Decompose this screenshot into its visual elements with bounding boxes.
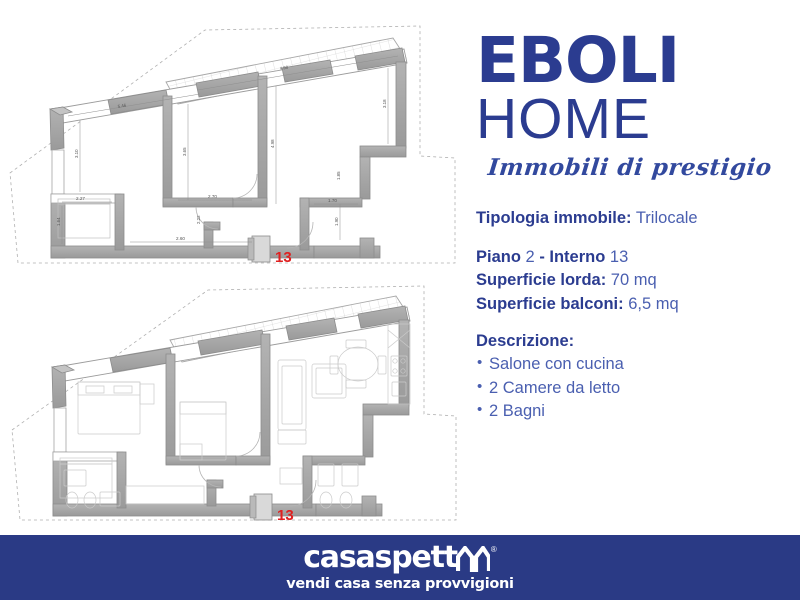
north-wall — [60, 48, 407, 123]
south-wall — [51, 246, 380, 258]
floor-plan-brochure: 13 5.46 4.6 — [0, 0, 800, 600]
house-roof-icon — [456, 546, 490, 572]
north-wall — [62, 306, 410, 381]
svg-text:2.27: 2.27 — [76, 196, 85, 201]
brand-logo: EBOLI HOME Immobili di prestigio — [476, 30, 782, 181]
property-info-panel: EBOLI HOME Immobili di prestigio Tipolog… — [462, 0, 800, 535]
casaspetto-wordmark: casaspett — [303, 543, 457, 573]
registered-trademark-icon: ® — [491, 543, 497, 554]
floor-unit-row: Piano 2 - Interno 13 — [476, 246, 782, 269]
brand-name-secondary: HOME — [476, 90, 782, 150]
footer-subtitle: vendi casa senza provvigioni — [286, 576, 513, 592]
property-type-row: Tipologia immobile: Trilocale — [476, 207, 782, 230]
unit-label: - Interno — [539, 248, 605, 266]
svg-text:1.90: 1.90 — [334, 217, 339, 226]
balcony-area-row: Superficie balconi: 6,5 mq — [476, 293, 782, 316]
fixture-outlines — [58, 199, 110, 238]
gross-area-label: Superficie lorda: — [476, 271, 606, 289]
dimensioned-floor-plan[interactable]: 13 5.46 4.6 — [0, 8, 460, 278]
floor-value: 2 — [526, 248, 535, 266]
bathroom-2-fixtures — [318, 464, 358, 508]
svg-text:1.70: 1.70 — [328, 198, 337, 203]
svg-text:2.22: 2.22 — [196, 215, 201, 224]
list-item: 2 Bagni — [476, 400, 782, 423]
brand-tagline: Immobili di prestigio — [487, 154, 784, 181]
entry-door — [248, 236, 270, 262]
balcony-area-value: 6,5 mq — [628, 295, 678, 313]
property-type-group: Tipologia immobile: Trilocale — [476, 207, 782, 230]
gross-area-row: Superficie lorda: 70 mq — [476, 269, 782, 292]
bathroom-1-fixtures — [60, 458, 120, 508]
brand-name-primary: EBOLI — [476, 30, 782, 92]
bed-camera-1 — [78, 382, 154, 434]
description-title: Descrizione: — [476, 332, 782, 351]
unit-marker-lower: 13 — [277, 507, 294, 524]
sofa-salone — [278, 360, 306, 444]
list-item: Salone con cucina — [476, 353, 782, 376]
svg-text:3.65: 3.65 — [182, 147, 187, 156]
svg-text:3.10: 3.10 — [74, 149, 79, 158]
bed-camera-2 — [180, 402, 226, 460]
property-type-value: Trilocale — [636, 209, 698, 227]
svg-text:1.85: 1.85 — [336, 171, 341, 180]
furnished-floor-plan[interactable]: 13 — [0, 272, 460, 534]
armchair-salone — [312, 364, 346, 398]
floor-label: Piano — [476, 248, 521, 266]
description-group: Descrizione: Salone con cucina 2 Camere … — [476, 332, 782, 423]
description-list: Salone con cucina 2 Camere da letto 2 Ba… — [476, 353, 782, 423]
entry-door — [250, 494, 272, 520]
svg-text:3.18: 3.18 — [382, 99, 387, 108]
east-wall — [360, 62, 406, 258]
list-item: 2 Camere da letto — [476, 377, 782, 400]
property-type-label: Tipologia immobile: — [476, 209, 632, 227]
unit-marker-upper: 13 — [275, 249, 292, 266]
footer-bar: casaspett ® vendi casa senza provvigioni — [0, 535, 800, 600]
svg-text:2.70: 2.70 — [208, 194, 217, 199]
balcony-area-label: Superficie balconi: — [476, 295, 624, 313]
property-details-group: Piano 2 - Interno 13 Superficie lorda: 7… — [476, 246, 782, 316]
svg-text:4.98: 4.98 — [270, 139, 275, 148]
svg-text:2.60: 2.60 — [176, 236, 185, 241]
casaspetto-logo[interactable]: casaspett ® — [303, 543, 497, 573]
unit-value: 13 — [610, 248, 628, 266]
floor-plans-region: 13 5.46 4.6 — [0, 0, 460, 535]
svg-text:1.64: 1.64 — [56, 217, 61, 226]
gross-area-value: 70 mq — [611, 271, 657, 289]
